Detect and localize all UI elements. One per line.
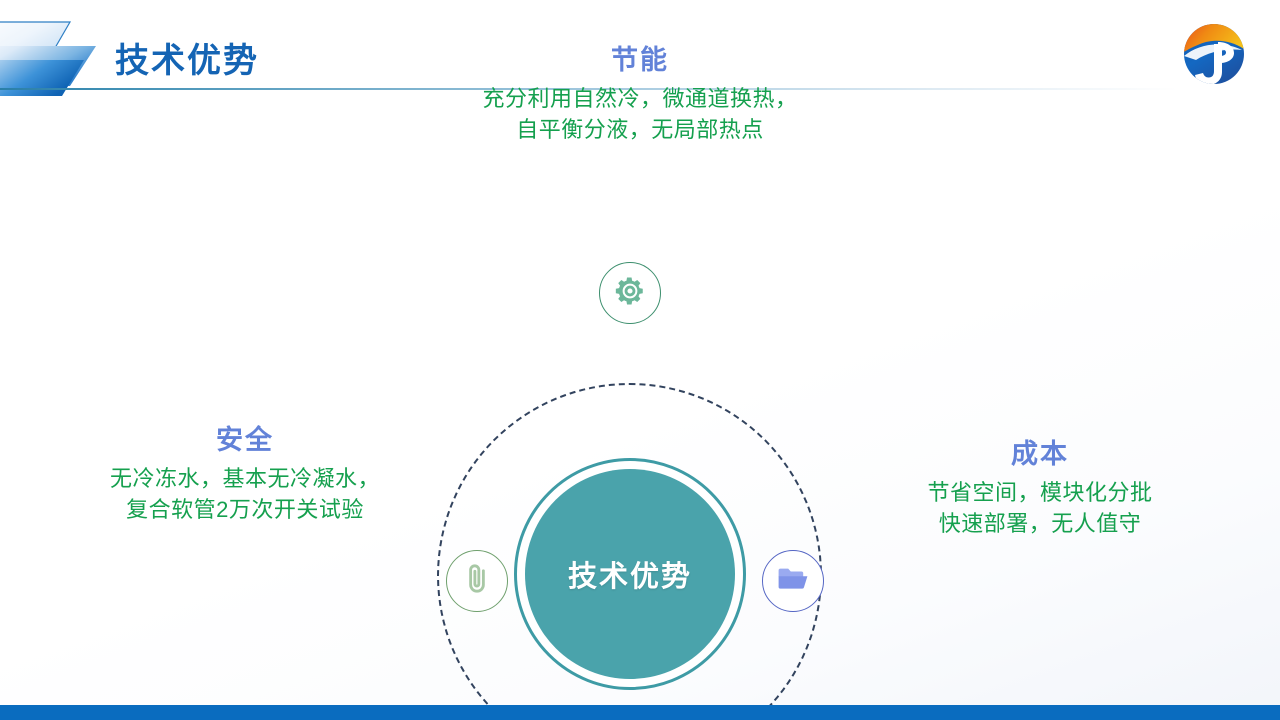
gear-icon	[613, 274, 647, 313]
block-energy: 节能 充分利用自然冷，微通道换热， 自平衡分液，无局部热点	[390, 38, 890, 145]
node-energy[interactable]	[599, 262, 661, 324]
block-cost-heading: 成本	[830, 432, 1250, 471]
block-safety-body: 无冷冻水，基本无冷凝水， 复合软管2万次开关试验	[35, 463, 455, 525]
folder-icon	[775, 561, 811, 602]
node-cost[interactable]	[762, 550, 824, 612]
core-label: 技术优势	[568, 553, 692, 595]
footer-bar	[0, 705, 1280, 720]
core-circle: 技术优势	[525, 469, 735, 679]
block-safety-heading: 安全	[35, 418, 455, 457]
node-safety[interactable]	[446, 550, 508, 612]
paperclip-icon	[460, 562, 494, 601]
advantages-diagram: 技术优势	[0, 96, 1280, 706]
company-logo-icon	[1178, 18, 1250, 90]
block-energy-body: 充分利用自然冷，微通道换热， 自平衡分液，无局部热点	[390, 83, 890, 145]
page-title: 技术优势	[115, 33, 259, 82]
block-safety: 安全 无冷冻水，基本无冷凝水， 复合软管2万次开关试验	[35, 418, 455, 525]
block-cost: 成本 节省空间，模块化分批 快速部署，无人值守	[830, 432, 1250, 539]
block-cost-body: 节省空间，模块化分批 快速部署，无人值守	[830, 477, 1250, 539]
block-energy-heading: 节能	[390, 38, 890, 77]
